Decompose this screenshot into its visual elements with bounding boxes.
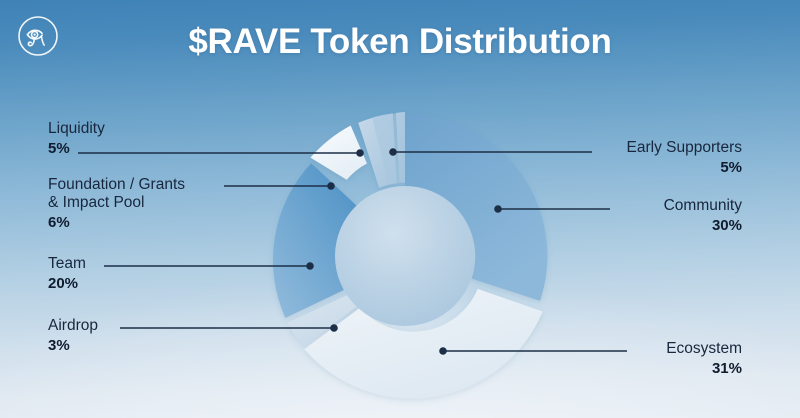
callout-airdrop-name: Airdrop [48, 317, 98, 335]
callout-team-value: 20% [48, 275, 86, 292]
callout-ecosystem-value: 31% [666, 360, 742, 377]
donut-hub [335, 186, 475, 326]
callout-community: Community 30% [664, 197, 742, 234]
callout-early-supporters-value: 5% [627, 159, 742, 176]
token-distribution-poster: $RAVE Token Distribution [0, 0, 800, 418]
callout-early-supporters: Early Supporters 5% [627, 139, 742, 176]
callout-liquidity: Liquidity 5% [48, 120, 105, 157]
callout-airdrop: Airdrop 3% [48, 317, 98, 354]
callout-foundation-name-line2: & Impact Pool [48, 194, 185, 212]
callout-community-value: 30% [664, 217, 742, 234]
callout-team: Team 20% [48, 255, 86, 292]
callout-liquidity-name: Liquidity [48, 120, 105, 138]
callout-community-name: Community [664, 197, 742, 215]
callout-foundation: Foundation / Grants & Impact Pool 6% [48, 176, 185, 231]
callout-early-supporters-name: Early Supporters [627, 139, 742, 157]
callout-team-name: Team [48, 255, 86, 273]
callout-foundation-name: Foundation / Grants [48, 176, 185, 194]
callout-liquidity-value: 5% [48, 140, 105, 157]
callout-ecosystem-name: Ecosystem [666, 340, 742, 358]
callout-foundation-value: 6% [48, 214, 185, 231]
callout-ecosystem: Ecosystem 31% [666, 340, 742, 377]
callout-airdrop-value: 3% [48, 337, 98, 354]
